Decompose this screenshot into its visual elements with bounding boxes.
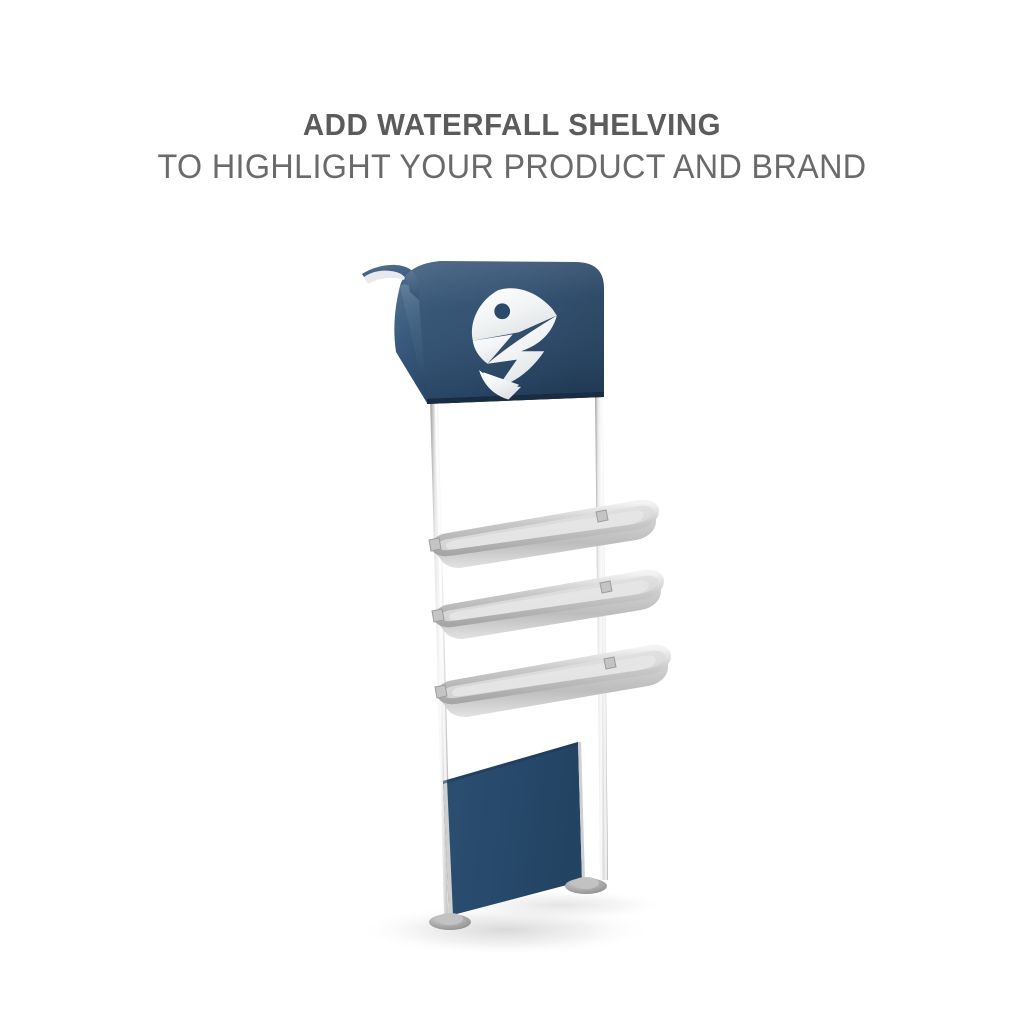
canvas: ADD WATERFALL SHELVING TO HIGHLIGHT YOUR… — [0, 0, 1024, 1024]
headline-line-2: TO HIGHLIGHT YOUR PRODUCT AND BRAND — [26, 147, 999, 187]
header-banner-panel — [362, 261, 604, 404]
shelf-3 — [435, 648, 668, 717]
headline-line-1: ADD WATERFALL SHELVING — [26, 108, 999, 141]
base-graphic-panel — [443, 742, 585, 916]
left-upright-pole — [430, 398, 452, 918]
shelf-1 — [429, 503, 656, 568]
right-upright-pole — [595, 392, 608, 880]
floor-shadow — [355, 889, 670, 956]
shelf-2 — [432, 573, 661, 639]
foot-left — [429, 913, 471, 930]
brand-logo — [460, 286, 561, 399]
headline-block: ADD WATERFALL SHELVING TO HIGHLIGHT YOUR… — [0, 108, 1024, 188]
foot-right — [565, 877, 607, 894]
